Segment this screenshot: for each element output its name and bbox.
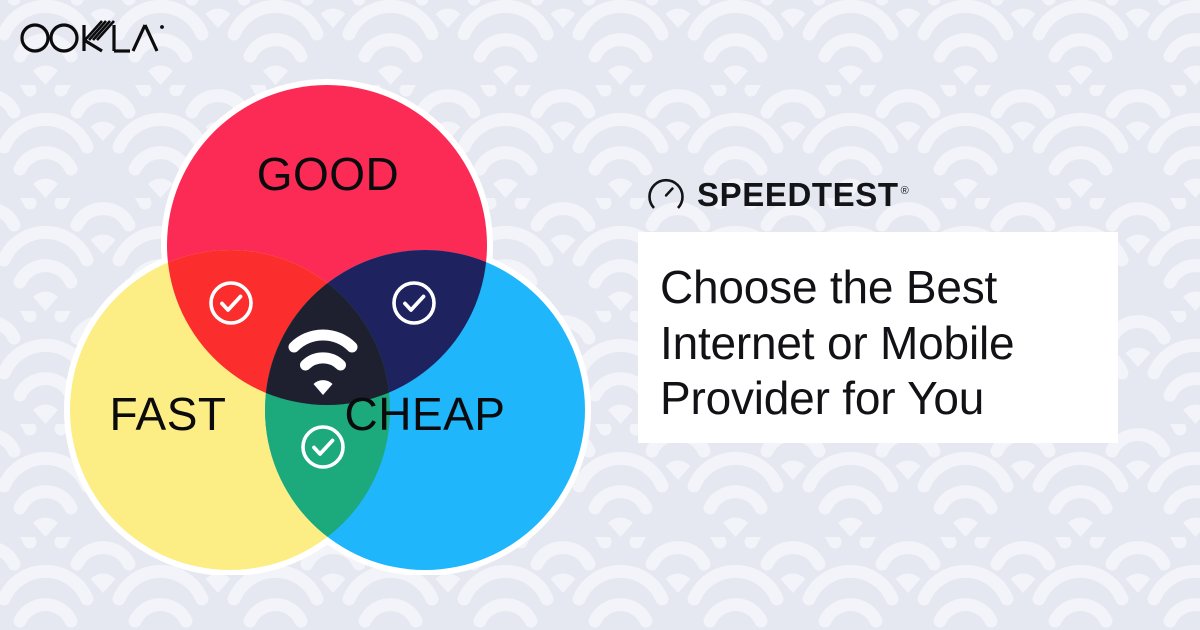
headline-card: Choose the Best Internet or Mobile Provi… <box>638 232 1118 443</box>
speedtest-logo: SPEEDTEST® <box>646 172 1120 216</box>
venn-label-fast: FAST <box>109 388 226 440</box>
page-title: Choose the Best Internet or Mobile Provi… <box>660 260 1118 427</box>
venn-diagram: GOOD FAST CHEAP <box>40 55 615 575</box>
speedtest-wordmark: SPEEDTEST® <box>697 178 909 211</box>
venn-label-good: GOOD <box>257 148 400 200</box>
speedtest-wordmark-text: SPEEDTEST <box>697 176 899 213</box>
venn-label-cheap: CHEAP <box>345 388 506 440</box>
registered-trademark-symbol: ® <box>901 185 910 197</box>
ookla-logo <box>18 16 168 58</box>
speedometer-icon <box>646 174 686 214</box>
right-content-column: SPEEDTEST® Choose the Best Internet or M… <box>638 172 1120 443</box>
